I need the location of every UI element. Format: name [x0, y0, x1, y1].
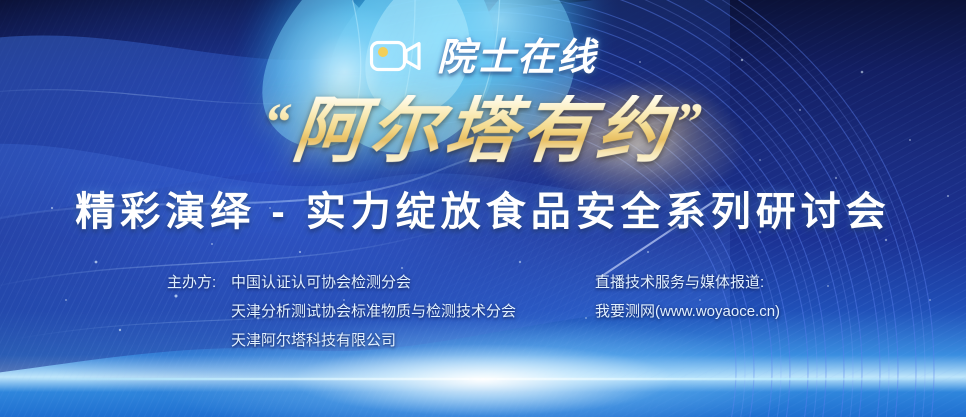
close-quote: ” — [671, 92, 708, 152]
organizer-line-3: 天津阿尔塔科技有限公司 — [167, 326, 516, 355]
organizer-line-2: 天津分析测试协会标准物质与检测技术分会 — [167, 297, 516, 326]
organizer-name-1: 中国认证认可协会检测分会 — [231, 274, 411, 291]
media-partner-label: 直播技术服务与媒体报道: — [595, 274, 764, 291]
brand-title: 院士在线 — [437, 39, 597, 77]
media-partner-label-line: 直播技术服务与媒体报道: — [595, 268, 780, 297]
headline-row: 精彩演绎 - 实力绽放食品安全系列研讨会 — [0, 183, 966, 241]
calligraphy-title-row: “阿尔塔有约” — [0, 84, 966, 178]
organizer-line-1: 主办方:中国认证认可协会检测分会 — [167, 268, 516, 297]
media-partner-value: 我要测网(www.woyaoce.cn) — [595, 303, 780, 320]
banner-content: 院士在线 “阿尔塔有约” 精彩演绎 - 实力绽放食品安全系列研讨会 主办方:中国… — [0, 0, 966, 417]
brand-row: 院士在线 — [0, 30, 966, 86]
calligraphy-title-text: 阿尔塔有约 — [289, 91, 677, 171]
calligraphy-title: “阿尔塔有约” — [258, 95, 708, 167]
footer-info: 主办方:中国认证认可协会检测分会 天津分析测试协会标准物质与检测技术分会 天津阿… — [0, 268, 966, 368]
organizer-name-2: 天津分析测试协会标准物质与检测技术分会 — [231, 303, 516, 320]
headline-text: 精彩演绎 - 实力绽放食品安全系列研讨会 — [75, 192, 891, 232]
event-banner: 院士在线 “阿尔塔有约” 精彩演绎 - 实力绽放食品安全系列研讨会 主办方:中国… — [0, 0, 966, 417]
video-camera-icon — [369, 38, 423, 79]
media-partner-value-line: 我要测网(www.woyaoce.cn) — [595, 297, 780, 326]
organizer-label: 主办方: — [167, 268, 231, 297]
organizer-name-3: 天津阿尔塔科技有限公司 — [231, 332, 396, 349]
media-partner-column: 直播技术服务与媒体报道: 我要测网(www.woyaoce.cn) — [595, 268, 780, 326]
organizers-column: 主办方:中国认证认可协会检测分会 天津分析测试协会标准物质与检测技术分会 天津阿… — [167, 268, 516, 355]
